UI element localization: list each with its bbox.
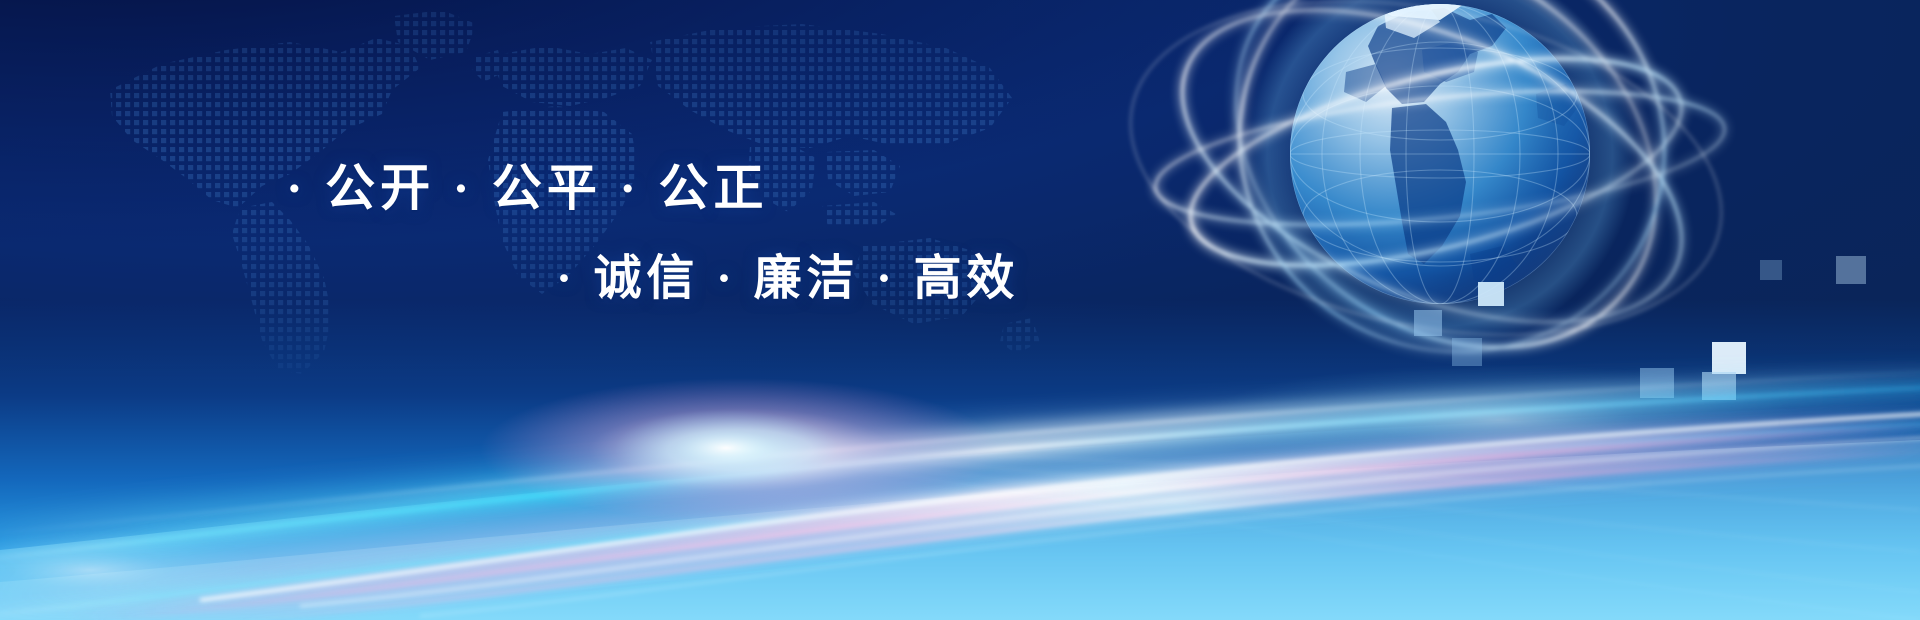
promo-banner: · 公开 · 公平 · 公正 · 诚信 · 廉洁 · 高效 — [0, 0, 1920, 620]
headline-line-1: · 公开 · 公平 · 公正 — [286, 148, 769, 220]
headline-line-2: · 诚信 · 廉洁 · 高效 — [556, 238, 1019, 308]
headline-block: · 公开 · 公平 · 公正 · 诚信 · 廉洁 · 高效 — [0, 0, 1920, 620]
